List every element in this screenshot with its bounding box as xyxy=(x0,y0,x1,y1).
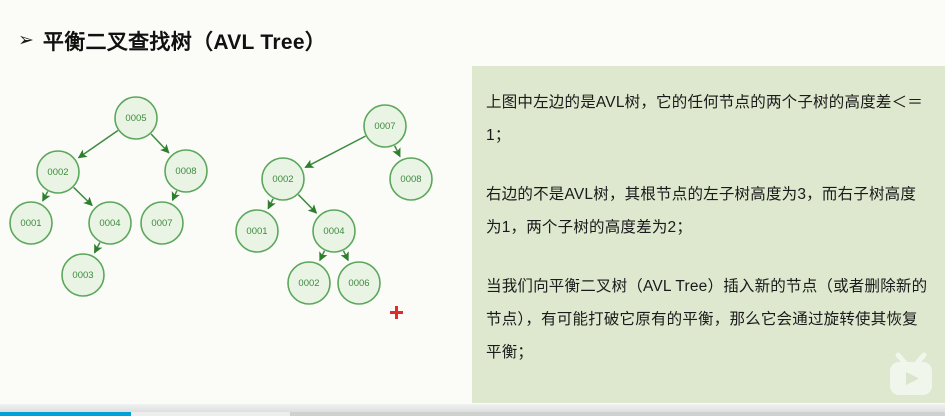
tree-edge xyxy=(305,136,365,167)
bullet-arrow-icon: ➢ xyxy=(18,31,34,50)
tree-edge xyxy=(344,251,349,261)
tree-edge xyxy=(320,251,325,261)
paragraph-spacer xyxy=(486,152,929,178)
video-player-bottom-bar[interactable] xyxy=(0,404,945,416)
right-tree-diagram: 0007000200080001000400020006 xyxy=(0,86,460,316)
explanation-panel: 上图中左边的是AVL树，它的任何节点的两个子树的高度差＜＝1； 右边的不是AVL… xyxy=(472,66,945,403)
tree-node: 0007 xyxy=(364,105,406,147)
tree-node-label: 0008 xyxy=(400,174,421,185)
page-title: ➢ 平衡二叉查找树（AVL Tree） xyxy=(18,26,326,56)
page-title-text: 平衡二叉查找树（AVL Tree） xyxy=(43,26,326,56)
tree-diagrams: 0005000200080001000400070003 00070002000… xyxy=(0,86,460,316)
explanation-paragraph-2: 右边的不是AVL树，其根节点的左子树高度为3，而右子树高度为1，两个子树的高度差… xyxy=(486,178,929,244)
tree-node-label: 0002 xyxy=(298,278,319,289)
tree-node-label: 0004 xyxy=(323,226,344,237)
explanation-paragraph-1: 上图中左边的是AVL树，它的任何节点的两个子树的高度差＜＝1； xyxy=(486,86,929,152)
tree-node: 0002 xyxy=(288,262,330,304)
slide-canvas: ➢ 平衡二叉查找树（AVL Tree） 00050002000800010004… xyxy=(0,0,945,404)
tree-node-label: 0001 xyxy=(246,226,267,237)
tree-node: 0006 xyxy=(338,262,380,304)
tree-node-label: 0002 xyxy=(272,174,293,185)
tree-node-label: 0006 xyxy=(348,278,369,289)
bilibili-watermark-logo xyxy=(884,352,938,404)
crosshair-cursor-icon xyxy=(390,306,403,319)
explanation-paragraph-3: 当我们向平衡二叉树（AVL Tree）插入新的节点（或者删除新的节点），有可能打… xyxy=(486,270,929,369)
tree-node: 0008 xyxy=(390,158,432,200)
paragraph-spacer xyxy=(486,244,929,270)
progress-played xyxy=(0,412,131,416)
player-bar-background xyxy=(0,404,945,412)
tree-node: 0001 xyxy=(236,210,278,252)
tree-node: 0002 xyxy=(262,158,304,200)
tree-edge xyxy=(298,195,316,213)
tree-node: 0004 xyxy=(313,210,355,252)
tree-node-label: 0007 xyxy=(374,121,395,132)
tree-edge xyxy=(268,199,273,209)
tree-edge xyxy=(395,146,400,157)
